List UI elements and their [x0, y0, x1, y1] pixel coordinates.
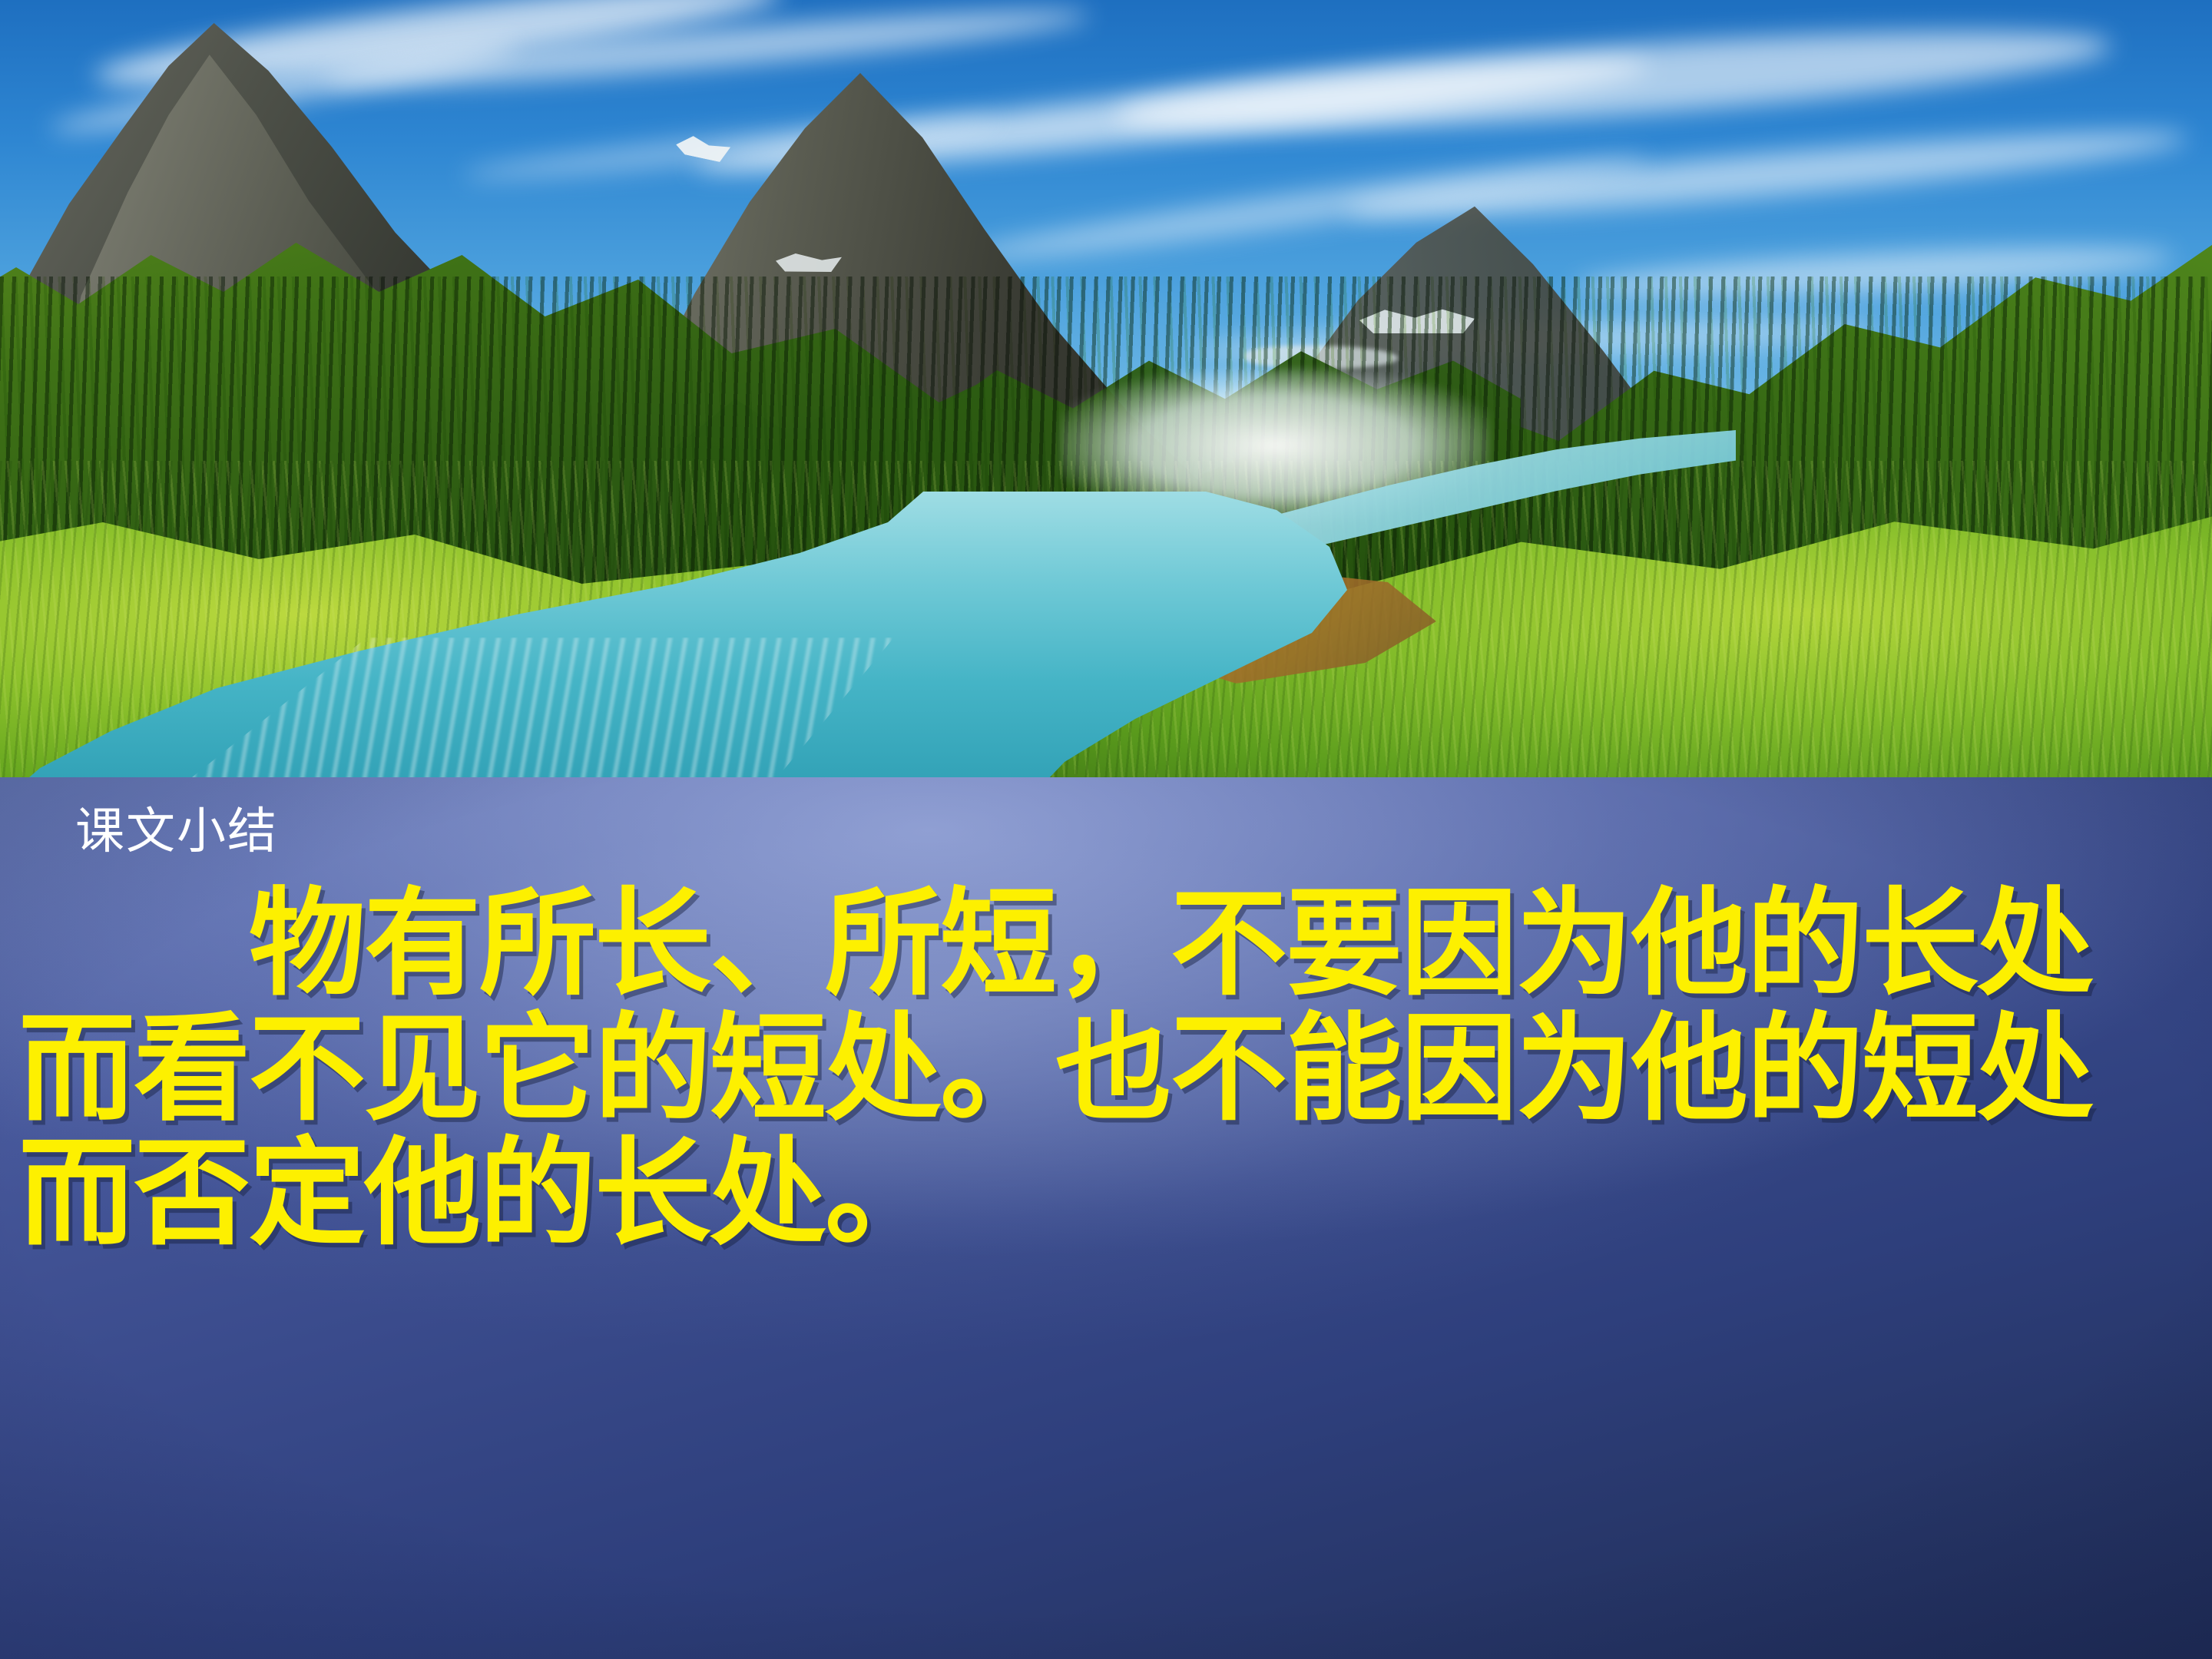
landscape-photo	[0, 0, 2212, 777]
presentation-slide: 课文小结 物有所长、所短，不要因为他的长处而看不见它的短处。也不能因为他的短处而…	[0, 0, 2212, 1659]
section-heading: 课文小结	[75, 805, 278, 859]
summary-paragraph: 物有所长、所短，不要因为他的长处而看不见它的短处。也不能因为他的短处而否定他的长…	[18, 882, 2197, 1257]
